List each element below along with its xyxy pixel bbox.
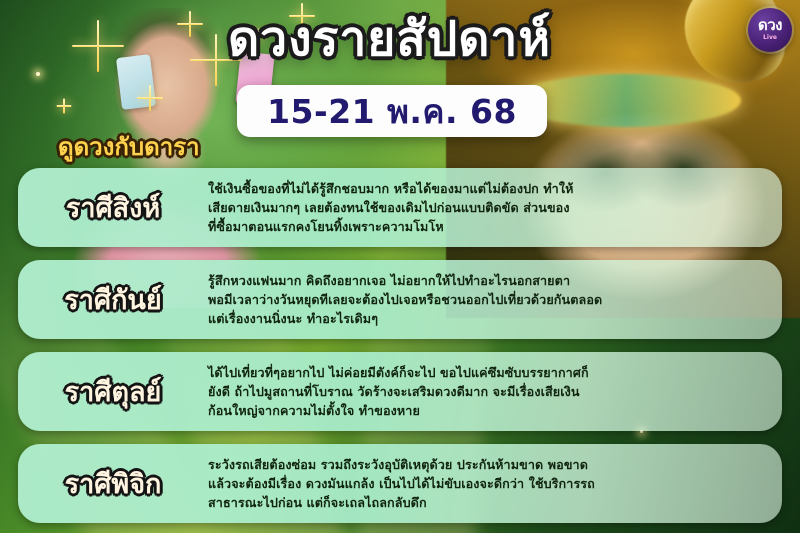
sign-body-line: ก้อนใหญ่จากความไม่ตั้งใจ ทำของหาย — [208, 401, 768, 420]
celebrity-badge: ดูดวงกับดารา — [58, 127, 200, 166]
brand-logo-text: ดวง — [758, 18, 782, 33]
sign-body-line: ยังดี ถ้าไปมูสถานที่โบราณ วัดร้างจะเสริม… — [208, 382, 768, 401]
date-range-label: 15-21 พ.ค. 68 — [267, 85, 517, 138]
sign-body-line: สาธารณะไปก่อน แต่ก็จะเถลไถลกลับดึก — [208, 493, 768, 512]
page-title: ดวงรายสัปดาห์ — [228, 14, 551, 64]
sign-body-line: ใช้เงินซื้อของที่ไม่ได้รู้สึกชอบมาก หรือ… — [208, 179, 768, 198]
sign-name-scorpio: ราศีพิจิก — [18, 462, 208, 505]
sign-body-libra: ได้ไปเที่ยวที่ๆอยากไป ไม่ค่อยมีตังค์ก็จะ… — [208, 363, 782, 420]
sign-body-leo: ใช้เงินซื้อของที่ไม่ได้รู้สึกชอบมาก หรือ… — [208, 179, 782, 236]
sign-body-line: รู้สึกหวงแฟนมาก คิดถึงอยากเจอ ไม่อยากให้… — [208, 271, 768, 290]
horoscope-card-virgo[interactable]: ราศีกันย์ รู้สึกหวงแฟนมาก คิดถึงอยากเจอ … — [18, 260, 782, 339]
brand-logo[interactable]: ดวง Live — [748, 8, 792, 52]
brand-logo-subtext: Live — [763, 34, 777, 41]
horoscope-poster: ดวงรายสัปดาห์ 15-21 พ.ค. 68 ดูดวงกับดารา… — [0, 0, 800, 533]
sign-body-line: ที่ซื้อมาตอนแรกคงโยนทิ้งเพราะความโมโห — [208, 217, 768, 236]
sign-name-leo: ราศีสิงห์ — [18, 186, 208, 229]
sign-body-line: พอมีเวลาว่างวันหยุดทีเลยจะต้องไปเจอหรือช… — [208, 290, 768, 309]
sign-name-virgo: ราศีกันย์ — [18, 278, 208, 321]
sign-body-line: แต่เรื่องงานนิ่งนะ ทำอะไรเดิมๆ — [208, 309, 768, 328]
sign-body-line: ระวังรถเสียต้องซ่อม รวมถึงระวังอุบัติเหต… — [208, 455, 768, 474]
sign-name-libra: ราศีตุลย์ — [18, 370, 208, 413]
horoscope-card-leo[interactable]: ราศีสิงห์ ใช้เงินซื้อของที่ไม่ได้รู้สึกช… — [18, 168, 782, 247]
horoscope-card-scorpio[interactable]: ราศีพิจิก ระวังรถเสียต้องซ่อม รวมถึงระวั… — [18, 444, 782, 523]
horoscope-card-list: ราศีสิงห์ ใช้เงินซื้อของที่ไม่ได้รู้สึกช… — [18, 168, 782, 533]
sign-body-line: แล้วจะต้องมีเรื่อง ดวงมันแกล้ง เป็นไปได้… — [208, 474, 768, 493]
horoscope-card-libra[interactable]: ราศีตุลย์ ได้ไปเที่ยวที่ๆอยากไป ไม่ค่อยม… — [18, 352, 782, 431]
sign-body-scorpio: ระวังรถเสียต้องซ่อม รวมถึงระวังอุบัติเหต… — [208, 455, 782, 512]
sign-body-line: ได้ไปเที่ยวที่ๆอยากไป ไม่ค่อยมีตังค์ก็จะ… — [208, 363, 768, 382]
sign-body-line: เสียดายเงินมากๆ เลยต้องทนใช้ของเดิมไปก่อ… — [208, 198, 768, 217]
sign-body-virgo: รู้สึกหวงแฟนมาก คิดถึงอยากเจอ ไม่อยากให้… — [208, 271, 782, 328]
date-range-badge: 15-21 พ.ค. 68 — [237, 85, 547, 137]
poster-header: ดวงรายสัปดาห์ 15-21 พ.ค. 68 ดูดวงกับดารา… — [0, 0, 800, 152]
